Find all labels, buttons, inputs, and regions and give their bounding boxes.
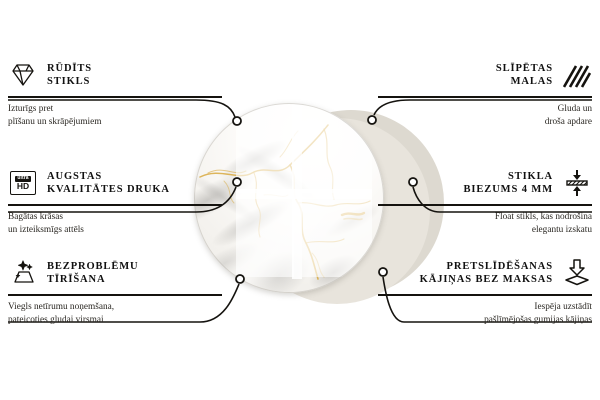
feature-header: PRETSLĪDĒŠANASKĀJIŅAS BEZ MAKSAS [378,256,592,290]
thickness-arrows-icon [562,169,592,197]
divider [378,294,592,296]
feature-title: PRETSLĪDĒŠANASKĀJIŅAS BEZ MAKSAS [420,260,553,287]
feature-polished-edges: SLĪPĒTASMALAS Gluda un droša apdare [378,58,592,129]
divider [8,96,222,98]
feature-title: BEZPROBLĒMUTĪRĪŠANA [47,260,139,287]
connector-dot-glass [233,117,241,125]
feature-description: Izturīgs pret plīšanu un skrāpējumiem [8,103,222,129]
feature-description: Bagātas krāsas un izteiksmīgs attēls [8,211,222,237]
infographic-canvas: RŪDĪTSSTIKLS Izturīgs pret plīšanu un sk… [0,0,600,400]
feature-print-quality: ultra HD AUGSTASKVALITĀTES DRUKA Bagātas… [8,166,222,237]
divider [378,96,592,98]
connector-dot-clean [236,275,244,283]
connector-dot-print [233,178,241,186]
polished-edge-icon [562,61,592,89]
feature-header: ultra HD AUGSTASKVALITĀTES DRUKA [8,166,222,200]
feature-description: Float stikls, kas nodrošina elegantu izs… [378,211,592,237]
feature-header: RŪDĪTSSTIKLS [8,58,222,92]
feature-header: STIKLABIEZUMS 4 MM [378,166,592,200]
feature-description: Viegls netīrumu noņemšana, pateicoties g… [8,301,222,327]
feature-header: SLĪPĒTASMALAS [378,58,592,92]
press-foot-icon [562,259,592,287]
divider [8,204,222,206]
ultra-hd-icon: ultra HD [8,169,38,197]
feature-title: STIKLABIEZUMS 4 MM [464,170,553,197]
feature-glass-thickness: STIKLABIEZUMS 4 MM Float stikls, kas nod… [378,166,592,237]
feature-easy-cleaning: BEZPROBLĒMUTĪRĪŠANA Viegls netīrumu noņe… [8,256,222,327]
feature-header: BEZPROBLĒMUTĪRĪŠANA [8,256,222,290]
connector-dot-edges [368,116,376,124]
divider [378,204,592,206]
sparkle-surface-icon [8,259,38,287]
feature-tempered-glass: RŪDĪTSSTIKLS Izturīgs pret plīšanu un sk… [8,58,222,129]
feature-title: AUGSTASKVALITĀTES DRUKA [47,170,170,197]
feature-description: Gluda un droša apdare [378,103,592,129]
feature-description: Iespēja uzstādīt pašlīmējošas gumijas kā… [378,301,592,327]
ultra-hd-badge-bottom: HD [17,182,29,191]
diamond-icon [8,61,38,89]
feature-anti-slip-feet: PRETSLĪDĒŠANASKĀJIŅAS BEZ MAKSAS Iespēja… [378,256,592,327]
divider [8,294,222,296]
feature-title: RŪDĪTSSTIKLS [47,62,92,89]
feature-title: SLĪPĒTASMALAS [496,62,553,89]
